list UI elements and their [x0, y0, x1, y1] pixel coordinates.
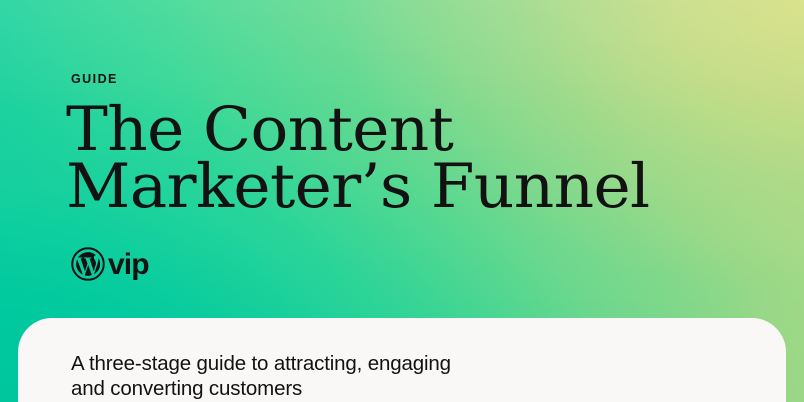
ebook-cover: GUIDE The Content Marketer’s Funnel vip … [0, 0, 804, 402]
headline-line-2: Marketer’s Funnel [66, 158, 650, 215]
subtitle: A three-stage guide to attracting, engag… [71, 351, 451, 401]
headline-line-1: The Content [66, 101, 650, 158]
subtitle-line-2: and converting customers [71, 376, 451, 401]
wordpress-vip-logo-lockup: vip [71, 246, 149, 282]
page-title: The Content Marketer’s Funnel [66, 101, 650, 215]
subtitle-line-1: A three-stage guide to attracting, engag… [71, 351, 451, 376]
wordpress-logo-icon [71, 247, 105, 281]
eyebrow-label: GUIDE [71, 73, 118, 86]
vip-wordmark: vip [108, 250, 149, 280]
bottom-card: A three-stage guide to attracting, engag… [18, 318, 786, 402]
